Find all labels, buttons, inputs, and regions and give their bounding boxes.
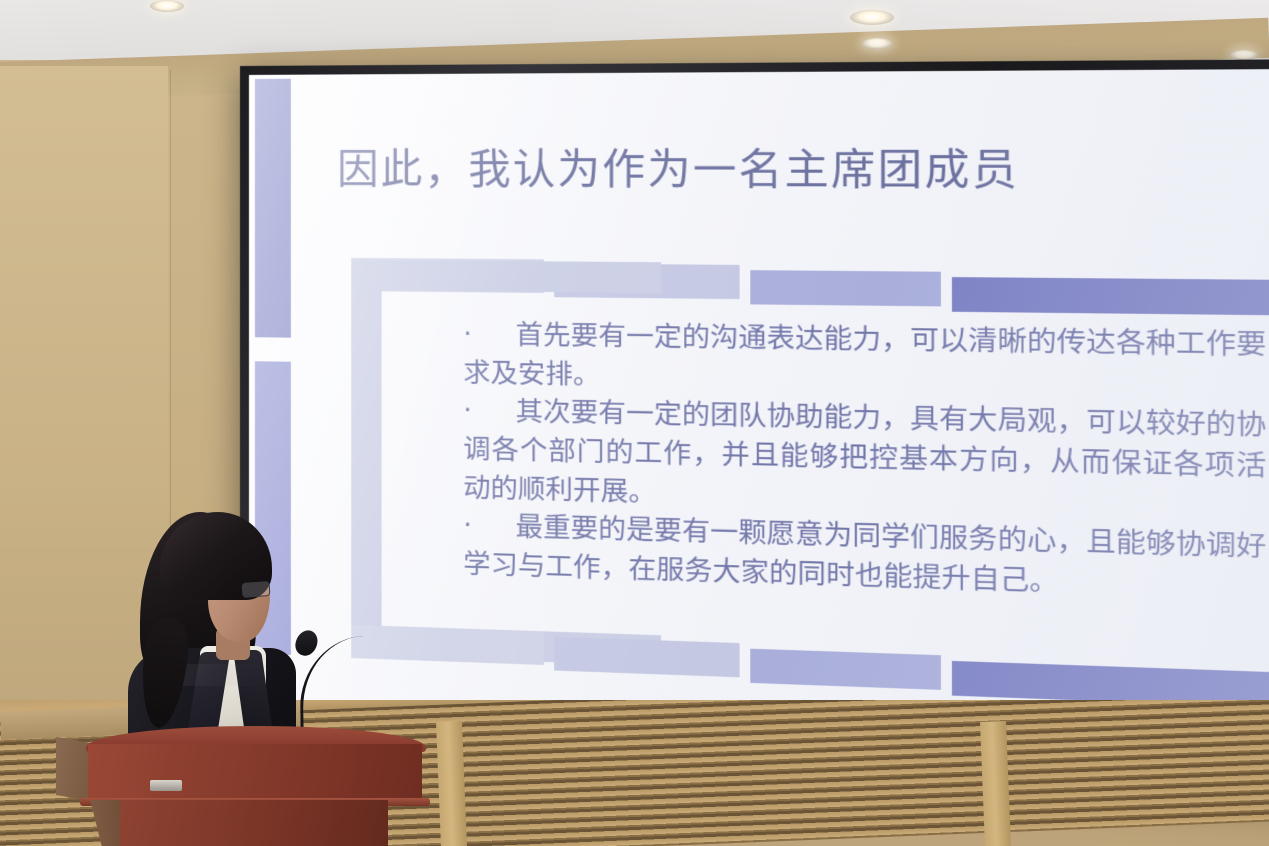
downlight-icon: [862, 38, 892, 49]
downlight-icon: [850, 10, 894, 25]
bullet-text: 其次要有一定的团队协助能力，具有大局观，可以较好的协调各个部门的工作，并且能够把…: [463, 396, 1266, 508]
podium-skirt: [120, 800, 388, 846]
slide-body: · 首先要有一定的沟通表达能力，可以清晰的传达各种工作要求及安排。 · 其次要有…: [463, 316, 1266, 608]
bottom-bar-2: [554, 637, 739, 678]
top-bar-4: [952, 277, 1269, 316]
bullet-text: 最重要的是要有一颗愿意为同学们服务的心，且能够协调好学习与工作，在服务大家的同时…: [463, 511, 1266, 597]
slide-bullet: · 首先要有一定的沟通表达能力，可以清晰的传达各种工作要求及安排。: [463, 316, 1266, 406]
downlight-icon: [1230, 50, 1258, 60]
bullet-marker: ·: [463, 395, 472, 427]
content-frame-left: [351, 260, 381, 656]
downlight-icon: [150, 0, 184, 12]
slide-bullet: · 其次要有一定的团队协助能力，具有大局观，可以较好的协调各个部门的工作，并且能…: [463, 392, 1266, 527]
top-bar-3: [750, 270, 941, 306]
podium-plaque: [150, 780, 182, 791]
bullet-text: 首先要有一定的沟通表达能力，可以清晰的传达各种工作要求及安排。: [463, 319, 1266, 390]
bottom-bar-3: [750, 649, 941, 690]
bullet-marker: ·: [463, 319, 472, 351]
glasses-icon: [242, 581, 271, 598]
content-frame-top: [351, 260, 661, 293]
podium-body: [88, 744, 422, 806]
presentation-scene-photo: 因此，我认为作为一名主席团成员 · 首先要有一定的沟通表达能力，可以清晰的传达各…: [0, 0, 1269, 846]
left-accent-bar-top: [255, 79, 291, 338]
bullet-marker: ·: [463, 510, 472, 542]
slide-title: 因此，我认为作为一名主席团成员: [337, 134, 1019, 197]
